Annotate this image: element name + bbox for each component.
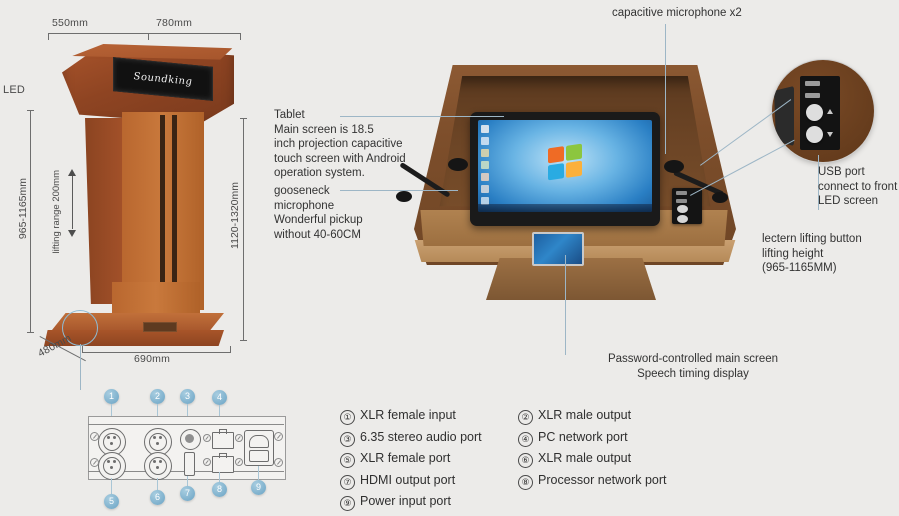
legend-text: XLR male output [538, 451, 631, 465]
legend-row: ⑦ HDMI output port ⑧ Processor network p… [340, 473, 700, 490]
legend-text: XLR male output [538, 408, 631, 422]
dim-965-1165mm: 965-1165mm [17, 178, 29, 239]
label-led: LED [3, 84, 25, 96]
annotation-capacitive-mic: capacitive microphone x2 [612, 6, 812, 21]
badge-2: 2 [150, 389, 165, 404]
dim-1120-1320mm: 1120-1320mm [229, 182, 241, 249]
annotation-lifting-button: lectern lifting button lifting height (9… [762, 232, 899, 276]
badge-1: 1 [104, 389, 119, 404]
base-plaque [143, 322, 177, 332]
usb-port-icon-2[interactable] [676, 199, 687, 203]
inset-lift-down-button [806, 126, 823, 143]
legend-num: ④ [518, 432, 533, 447]
column-slat-1 [160, 115, 165, 295]
inset-usb-1 [805, 81, 820, 86]
legend-num: ⑤ [340, 453, 355, 468]
inset-control-panel [800, 76, 840, 150]
lift-up-button[interactable] [677, 205, 688, 213]
inset-usb-2 [805, 93, 820, 98]
legend-text: Power input port [360, 494, 451, 508]
legend-text: HDMI output port [360, 473, 455, 487]
lift-down-button[interactable] [677, 215, 688, 223]
tablet-screen[interactable] [478, 120, 652, 212]
usb-port-icon[interactable] [676, 191, 687, 195]
down-arrow-icon [827, 132, 833, 137]
connector-panel-drawing: 1 2 3 4 [88, 390, 286, 512]
elevation-drawing: 550mm 780mm LED Soundking 965-1165mm [0, 0, 270, 380]
soundking-logo: Soundking [134, 71, 193, 88]
annotation-main-screen: Password-controlled main screen Speech t… [578, 352, 808, 381]
xlr-female-port-5 [98, 452, 126, 480]
legend-num: ③ [340, 432, 355, 447]
legend-num: ① [340, 410, 355, 425]
badge-9: 9 [251, 480, 266, 495]
badge-3: 3 [180, 389, 195, 404]
speech-timing-display[interactable] [532, 232, 584, 266]
annotation-gooseneck: gooseneck microphone Wonderful pickup wi… [274, 184, 424, 242]
xlr-male-output-6 [144, 452, 172, 480]
legend-num: ⑥ [518, 453, 533, 468]
legend-num: ② [518, 410, 533, 425]
leader-connector-panel [80, 344, 81, 390]
stereo-audio-port-3 [180, 429, 201, 450]
leader-inset-link-2 [690, 175, 800, 215]
product-diagram: 550mm 780mm LED Soundking 965-1165mm [0, 0, 899, 515]
legend-row: ⑨ Power input port [340, 494, 700, 511]
pc-network-port-4 [212, 432, 234, 449]
dim-550mm: 550mm [52, 17, 88, 29]
timer-screen [534, 234, 582, 264]
dim-690mm: 690mm [134, 353, 170, 365]
processor-network-port-8 [212, 456, 234, 473]
lifting-range-arrow [68, 165, 78, 237]
desktop-icon-column [481, 125, 490, 209]
power-input-port-9 [244, 430, 274, 466]
lectern-column-left [85, 118, 127, 304]
tablet-device[interactable] [470, 112, 660, 226]
annotation-usb-port: USB port connect to front LED screen [818, 165, 899, 209]
up-arrow-icon [827, 109, 833, 114]
legend-num: ⑦ [340, 475, 355, 490]
legend-num: ⑨ [340, 496, 355, 511]
dim-line-top [48, 33, 240, 34]
hdmi-output-port-7 [184, 452, 195, 476]
badge-7: 7 [180, 486, 195, 501]
leader-main-screen [565, 255, 566, 355]
legend-row: ① XLR female input ② XLR male output [340, 408, 700, 425]
dim-lifting-range: lifting range 200mm [51, 170, 62, 253]
legend-text: XLR female input [360, 408, 456, 422]
legend-text: 6.35 stereo audio port [360, 430, 482, 444]
dim-780mm: 780mm [156, 17, 192, 29]
badge-6: 6 [150, 490, 165, 505]
legend-text: Processor network port [538, 473, 667, 487]
legend-num: ⑧ [518, 475, 533, 490]
annotation-tablet: Tablet Main screen is 18.5 inch projecti… [274, 108, 434, 181]
badge-8: 8 [212, 482, 227, 497]
badge-5: 5 [104, 494, 119, 509]
legend-text: XLR female port [360, 451, 450, 465]
windows-logo-icon [548, 144, 582, 181]
legend-row: ③ 6.35 stereo audio port ④ PC network po… [340, 430, 700, 447]
column-slat-2 [172, 115, 177, 295]
taskbar [478, 204, 652, 212]
leader-inset-link [700, 95, 790, 165]
port-legend: ① XLR female input ② XLR male output ③ 6… [340, 408, 700, 516]
legend-text: PC network port [538, 430, 628, 444]
leader-capacitive-mic [665, 24, 666, 154]
inset-lift-up-button [806, 104, 823, 121]
badge-4: 4 [212, 390, 227, 405]
legend-row: ⑤ XLR female port ⑥ XLR male output [340, 451, 700, 468]
